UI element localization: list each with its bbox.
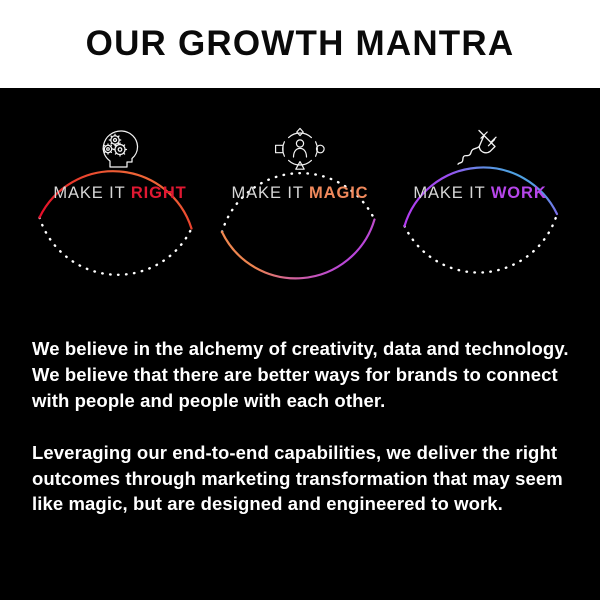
ring-1-dotted-arc	[40, 218, 192, 275]
page-title: OUR GROWTH MANTRA	[86, 24, 515, 64]
mantra-node-2-lead: MAKE IT	[232, 184, 310, 202]
mantra-circles-area: MAKE IT RIGHT	[0, 88, 600, 318]
mantra-node-1-accent: RIGHT	[131, 184, 187, 202]
body-copy: We believe in the alchemy of creativity,…	[32, 336, 577, 517]
head-with-gears-icon	[94, 126, 146, 172]
mantra-node-3-lead: MAKE IT	[413, 184, 491, 202]
copy-paragraph-1: We believe in the alchemy of creativity,…	[32, 336, 577, 414]
mantra-node-1-label: MAKE IT RIGHT	[15, 184, 225, 203]
mantra-node-2-accent: MAGIC	[309, 184, 369, 202]
mantra-node-make-it-right[interactable]: MAKE IT RIGHT	[15, 126, 225, 203]
dark-stage: MAKE IT RIGHT	[0, 88, 600, 600]
mantra-node-3-label: MAKE IT WORK	[375, 184, 585, 203]
mantra-node-make-it-work[interactable]: MAKE IT WORK	[375, 126, 585, 203]
mantra-node-2-label: MAKE IT MAGIC	[195, 184, 405, 203]
growth-mantra-poster: OUR GROWTH MANTRA	[0, 0, 600, 600]
mantra-node-make-it-magic[interactable]: MAKE IT MAGIC	[195, 126, 405, 203]
ring-3-dotted-arc	[405, 214, 558, 273]
ring-2-solid-arc	[222, 220, 375, 279]
mantra-node-3-accent: WORK	[491, 184, 547, 202]
header-band: OUR GROWTH MANTRA	[0, 0, 600, 88]
person-with-shapes-icon	[274, 126, 326, 172]
mantra-rings-svg	[0, 88, 600, 318]
copy-paragraph-2: Leveraging our end-to-end capabilities, …	[32, 440, 577, 518]
mantra-node-1-lead: MAKE IT	[53, 184, 131, 202]
power-plug-icon	[454, 126, 506, 172]
